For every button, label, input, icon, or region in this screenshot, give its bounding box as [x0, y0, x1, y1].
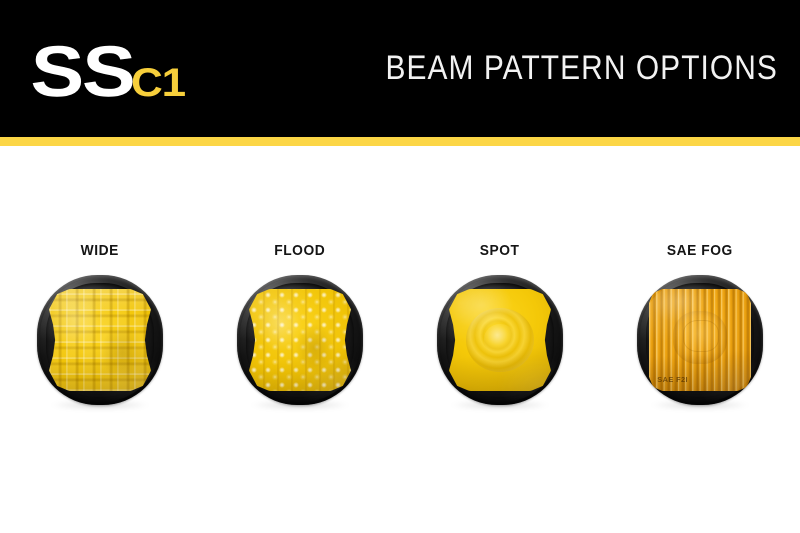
lamp-housing	[237, 275, 363, 405]
beam-pattern-options-page: SS C1 BEAM PATTERN OPTIONS WIDE	[0, 0, 800, 533]
logo-text-c1: C1	[131, 67, 185, 99]
beam-pattern-item-spot[interactable]: SPOT	[400, 146, 600, 533]
page-title: BEAM PATTERN OPTIONS	[386, 0, 778, 137]
sae-certification-stamp: SAE F2I	[657, 377, 688, 384]
lamp-lens-area: SAE F2I	[649, 289, 751, 391]
product-logo: SS C1	[30, 44, 180, 102]
beam-pattern-label-spot: SPOT	[480, 242, 520, 259]
lens-flood	[249, 289, 351, 391]
beam-pattern-row: WIDE	[0, 146, 800, 533]
beam-pattern-item-sae-fog[interactable]: SAE FOG SAE F2I	[600, 146, 800, 533]
light-pod-spot	[437, 275, 563, 405]
lamp-housing: SAE F2I	[637, 275, 763, 405]
lamp-housing	[437, 275, 563, 405]
beam-pattern-label-flood: FLOOD	[274, 242, 325, 259]
lens-wide	[49, 289, 151, 391]
beam-pattern-item-flood[interactable]: FLOOD	[200, 146, 400, 533]
light-pod-sae-fog: SAE F2I	[637, 275, 763, 405]
logo-text-ss: SS	[30, 44, 134, 102]
beam-pattern-item-wide[interactable]: WIDE	[0, 146, 200, 533]
lamp-lens-area	[49, 289, 151, 391]
lamp-housing	[37, 275, 163, 405]
beam-pattern-label-wide: WIDE	[81, 242, 119, 259]
header-bar: SS C1 BEAM PATTERN OPTIONS	[0, 0, 800, 137]
lens-sae-fog: SAE F2I	[649, 289, 751, 391]
lens-sheen	[649, 289, 751, 391]
lens-sheen	[449, 289, 551, 391]
beam-pattern-stage: WIDE	[0, 146, 800, 533]
lens-sheen	[249, 289, 351, 391]
lens-spot	[449, 289, 551, 391]
accent-divider-bar	[0, 137, 800, 146]
light-pod-flood	[237, 275, 363, 405]
beam-pattern-label-sae-fog: SAE FOG	[667, 242, 733, 259]
light-pod-wide	[37, 275, 163, 405]
lamp-lens-area	[449, 289, 551, 391]
lamp-lens-area	[249, 289, 351, 391]
lens-sheen	[49, 289, 151, 391]
